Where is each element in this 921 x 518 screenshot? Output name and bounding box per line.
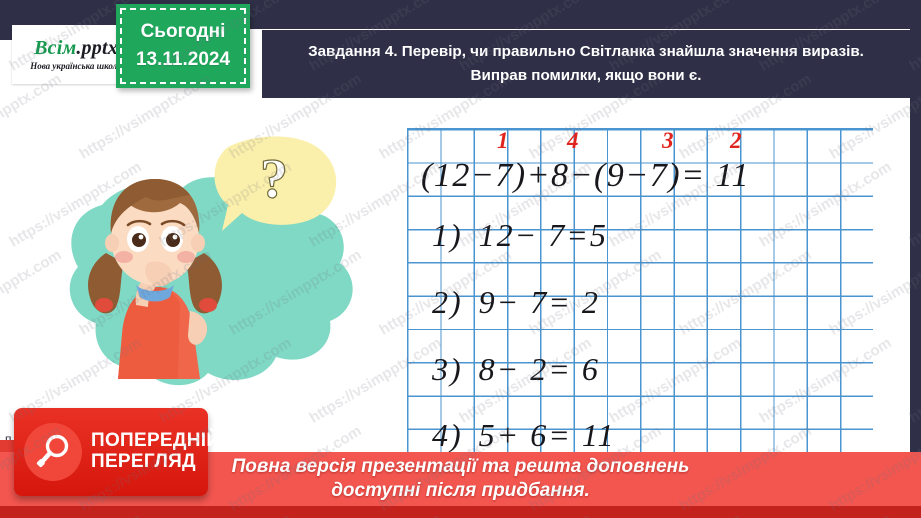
slide-root: Всім.pptx Нова українська школа Сьогодні…: [0, 0, 921, 518]
preview-badge[interactable]: ПОПЕРЕДНІЙ ПЕРЕГЛЯД: [14, 408, 208, 496]
purchase-notice-line-1: Повна версія презентації та решта доповн…: [232, 455, 690, 479]
frame-right-bar: [910, 0, 921, 518]
braid-left-tie: [95, 298, 113, 312]
thinking-girl-illustration: ?: [62, 135, 392, 410]
task-title-bar: Завдання 4. Перевір, чи правильно Світла…: [262, 30, 910, 98]
step-4-number: 4): [432, 417, 463, 453]
question-mark-glyph: ?: [260, 148, 288, 210]
order-number-3: 3: [662, 128, 674, 154]
watermark-text: https://vsimpptx.com: [0, 70, 64, 162]
solution-step-4: 4)5+ 6= 11: [432, 417, 615, 454]
magnifier-icon-svg: [33, 432, 73, 472]
task-title-line-1: Завдання 4. Перевір, чи правильно Світла…: [308, 40, 864, 64]
preview-badge-line-2: ПЕРЕГЛЯД: [91, 452, 220, 473]
solution-step-1: 1)12− 7=5: [432, 217, 608, 254]
step-1-number: 1): [432, 217, 463, 253]
order-number-4: 2: [730, 128, 742, 154]
cheek-left: [115, 251, 133, 263]
step-2-number: 2): [432, 284, 463, 320]
step-4-text: 5+ 6= 11: [479, 417, 616, 453]
solution-step-3: 3)8− 2= 6: [432, 351, 600, 388]
step-3-text: 8− 2= 6: [479, 351, 600, 387]
step-3-number: 3): [432, 351, 463, 387]
frame-left-corner: [0, 0, 12, 40]
operation-order-row: 1 4 3 2: [407, 129, 873, 159]
order-number-1: 1: [497, 128, 509, 154]
ear-right: [191, 234, 205, 252]
ear-left: [105, 234, 119, 252]
today-date-badge: Сьогодні 13.11.2024: [116, 4, 250, 88]
eye-left-pupil: [132, 233, 146, 247]
step-1-text: 12− 7=5: [479, 217, 608, 253]
today-label: Сьогодні: [141, 18, 226, 46]
thinking-girl-svg: ?: [62, 135, 392, 410]
order-number-2: 4: [567, 128, 579, 154]
brand-logo-subtitle: Нова українська школа: [30, 61, 122, 71]
braid-right-tie: [199, 298, 217, 312]
solution-step-2: 2)9− 7= 2: [432, 284, 600, 321]
bottom-accent-strip: [0, 506, 921, 518]
math-worksheet-grid: 1 4 3 2 (12−7)+8−(9−7)= 11 1)12− 7=5 2)9…: [407, 128, 873, 494]
magnifier-icon: [24, 423, 82, 481]
preview-badge-line-1: ПОПЕРЕДНІЙ: [91, 431, 220, 452]
today-date: 13.11.2024: [136, 46, 230, 74]
eye-left-glint: [139, 235, 144, 240]
brand-logo-name: Всім: [34, 37, 76, 59]
eye-right-pupil: [166, 233, 180, 247]
watermark-text: https://vsimpptx.com: [0, 246, 64, 338]
step-2-text: 9− 7= 2: [479, 284, 600, 320]
brand-logo-wordmark: Всім.pptx: [34, 38, 118, 58]
task-title-line-2: Виправ помилки, якщо вони є.: [471, 64, 702, 88]
purchase-notice-line-2: доступні після придбання.: [331, 479, 590, 503]
brand-logo-ext: .pptx: [76, 37, 118, 59]
eye-right-glint: [173, 235, 178, 240]
preview-badge-text: ПОПЕРЕДНІЙ ПЕРЕГЛЯД: [91, 431, 220, 472]
cheek-right: [177, 251, 195, 263]
main-expression: (12−7)+8−(9−7)= 11: [421, 157, 750, 195]
